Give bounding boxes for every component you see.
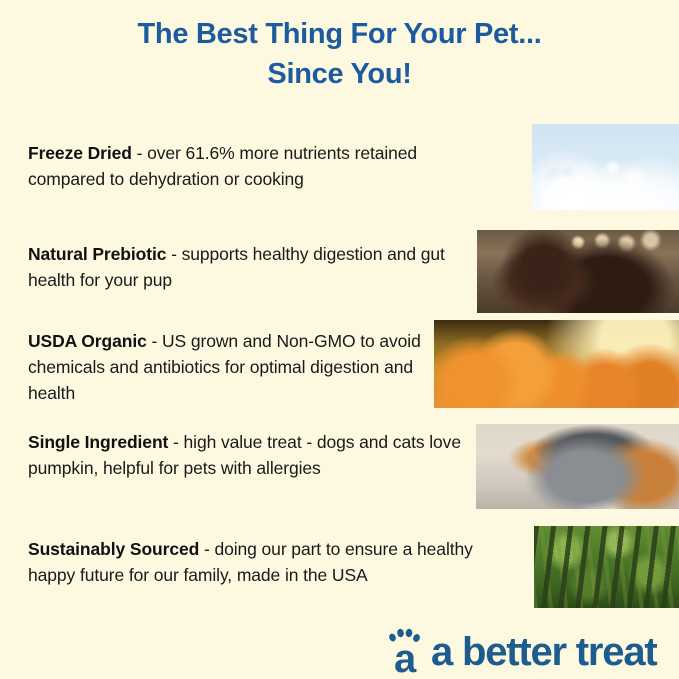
forest-trees-photo bbox=[534, 526, 679, 608]
feature-item-freeze-dried: Freeze Dried - over 61.6% more nutrients… bbox=[28, 140, 498, 192]
chocolate-lab-dog-photo-inner bbox=[477, 230, 679, 313]
feature-lead-single-ingredient: Single Ingredient bbox=[28, 432, 168, 452]
pumpkins-photo bbox=[434, 320, 679, 408]
brand-logo-text: a better treat bbox=[431, 630, 657, 674]
svg-text:a: a bbox=[394, 637, 417, 674]
frost-ice-photo-inner bbox=[532, 124, 679, 210]
paw-print-a-icon: a bbox=[385, 628, 429, 674]
page-title-line-2: Since You! bbox=[0, 54, 679, 94]
feature-lead-natural-prebiotic: Natural Prebiotic bbox=[28, 244, 166, 264]
chocolate-lab-dog-photo bbox=[477, 230, 679, 313]
forest-trees-photo-inner bbox=[534, 526, 679, 608]
cat-and-dog-photo-inner bbox=[476, 424, 679, 509]
brand-logo: a a better treat bbox=[385, 626, 657, 674]
pumpkins-photo-inner bbox=[434, 320, 679, 408]
page-title-line-1: The Best Thing For Your Pet... bbox=[0, 14, 679, 54]
feature-item-sustainably-sourced: Sustainably Sourced - doing our part to … bbox=[28, 536, 524, 588]
page-title: The Best Thing For Your Pet... Since You… bbox=[0, 14, 679, 94]
feature-lead-sustainably-sourced: Sustainably Sourced bbox=[28, 539, 199, 559]
feature-lead-usda-organic: USDA Organic bbox=[28, 331, 147, 351]
feature-item-single-ingredient: Single Ingredient - high value treat - d… bbox=[28, 429, 466, 481]
feature-item-usda-organic: USDA Organic - US grown and Non-GMO to a… bbox=[28, 328, 428, 406]
frost-ice-photo bbox=[532, 124, 679, 210]
infographic-page: The Best Thing For Your Pet... Since You… bbox=[0, 0, 679, 679]
feature-lead-freeze-dried: Freeze Dried bbox=[28, 143, 132, 163]
cat-and-dog-photo bbox=[476, 424, 679, 509]
feature-item-natural-prebiotic: Natural Prebiotic - supports healthy dig… bbox=[28, 241, 464, 293]
